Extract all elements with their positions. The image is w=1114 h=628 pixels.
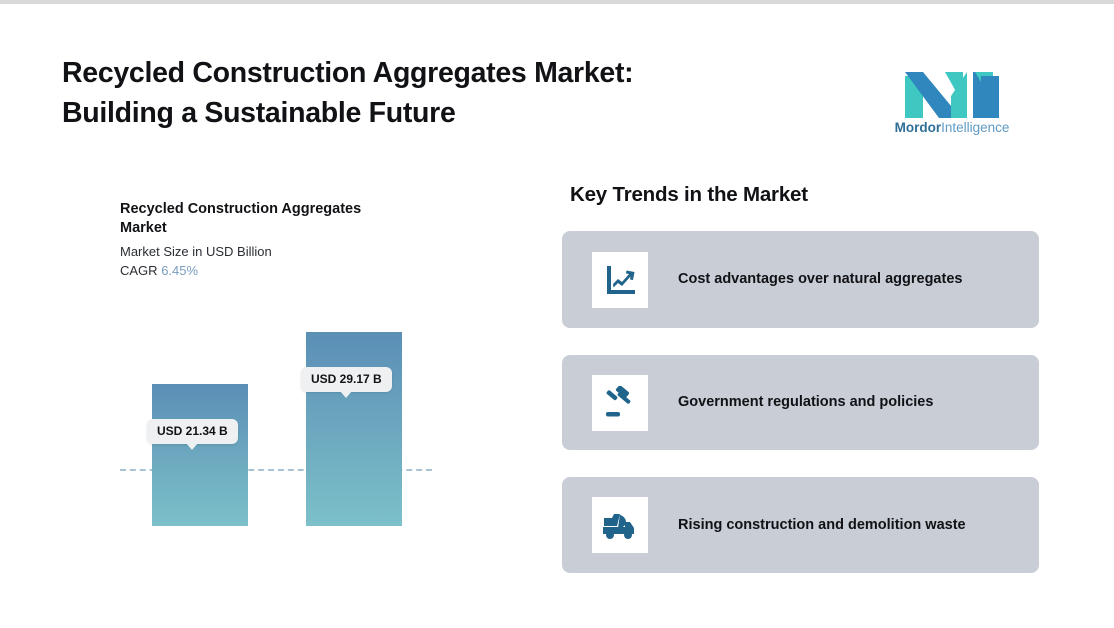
mordor-mi-logo-icon xyxy=(893,62,1011,118)
cagr-value: 6.45% xyxy=(161,263,198,278)
trend-card-cost-advantages[interactable]: Cost advantages over natural aggregates xyxy=(562,231,1039,328)
page-title-line-2: Building a Sustainable Future xyxy=(62,93,782,133)
chart-subtitle: Market Size in USD Billion xyxy=(120,243,450,261)
cagr-label: CAGR xyxy=(120,263,158,278)
top-divider-band xyxy=(0,0,1114,4)
chart-cagr: CAGR 6.45% xyxy=(120,262,450,280)
trend-card-label: Government regulations and policies xyxy=(678,392,933,413)
trend-card-label: Cost advantages over natural aggregates xyxy=(678,269,962,290)
brand-wordmark: MordorIntelligence xyxy=(893,120,1011,135)
bar-2025 xyxy=(152,384,248,526)
page-title: Recycled Construction Aggregates Market:… xyxy=(62,53,782,133)
slide-canvas: Recycled Construction Aggregates Market:… xyxy=(0,0,1114,628)
bar-value-label-2025: USD 21.34 B xyxy=(147,419,238,444)
chart-title: Recycled Construction Aggregates Market xyxy=(120,200,405,238)
trend-card-label: Rising construction and demolition waste xyxy=(678,515,966,536)
brand-name-bold: Mordor xyxy=(895,120,942,135)
trend-card-government-regulations[interactable]: Government regulations and policies xyxy=(562,355,1039,450)
cement-mixer-truck-icon xyxy=(592,497,648,553)
page-title-line-1: Recycled Construction Aggregates Market: xyxy=(62,53,782,93)
brand-logo: MordorIntelligence xyxy=(893,62,1011,140)
trend-card-construction-waste[interactable]: Rising construction and demolition waste xyxy=(562,477,1039,573)
gavel-icon xyxy=(592,375,648,431)
bar-value-label-2030: USD 29.17 B xyxy=(301,367,392,392)
key-trends-heading: Key Trends in the Market xyxy=(570,183,808,207)
bar-chart-plot: USD 21.34 B USD 29.17 B 2025 2030 Source… xyxy=(120,296,450,526)
bar-2030 xyxy=(306,332,402,526)
chart-panel: Recycled Construction Aggregates Market … xyxy=(120,200,450,575)
brand-name-light: Intelligence xyxy=(941,120,1009,135)
growth-chart-icon xyxy=(592,252,648,308)
